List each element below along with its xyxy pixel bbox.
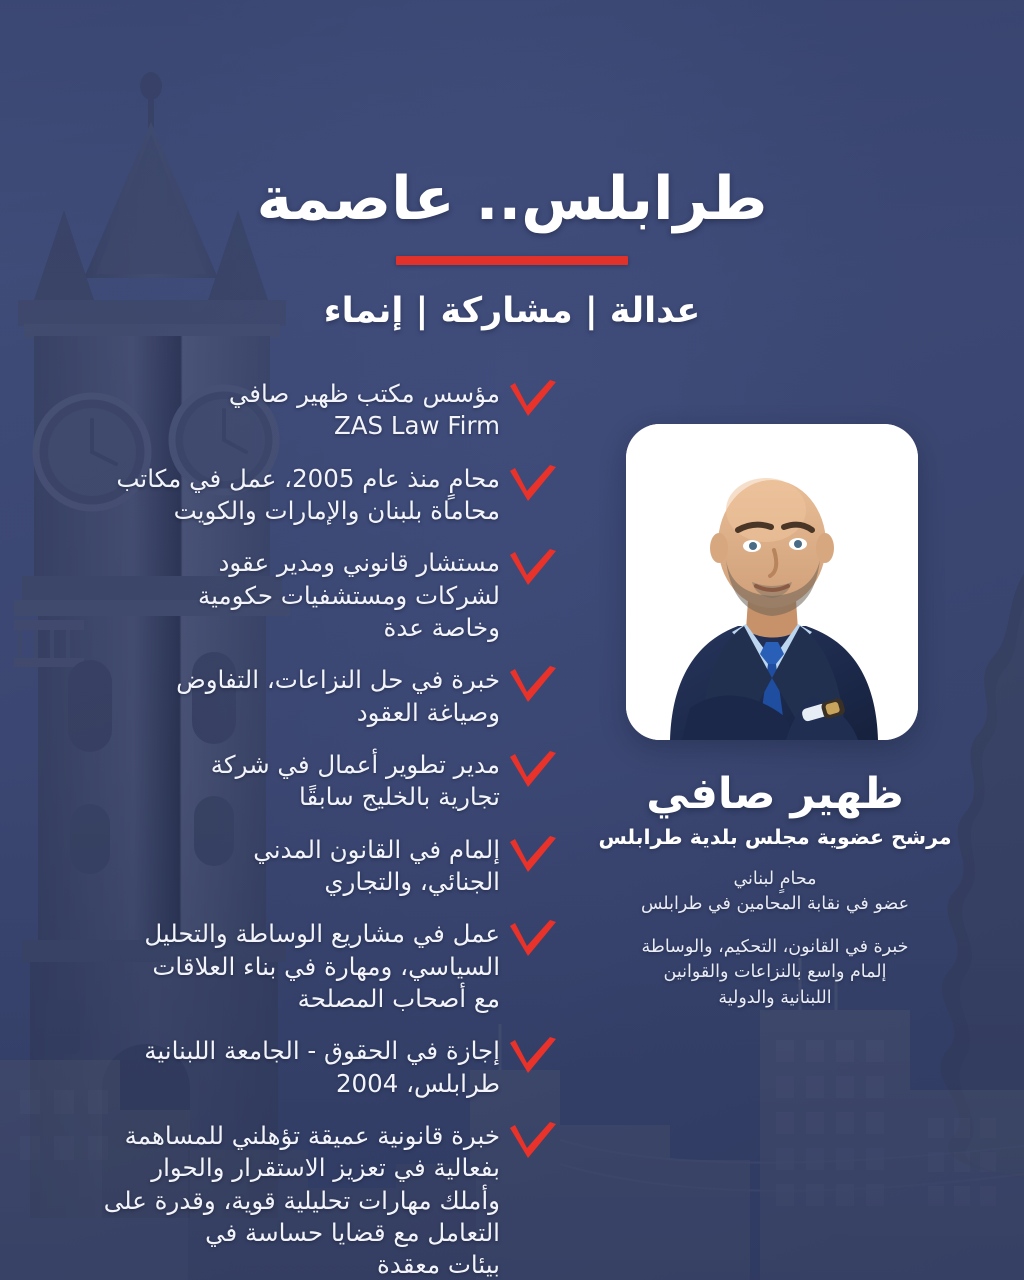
headline-block: طرابلس.. عاصمة عدالة | مشاركة | إنماء xyxy=(0,165,1024,331)
list-item: محامٍ منذ عام 2005، عمل في مكاتب محاماة … xyxy=(20,463,560,528)
check-icon xyxy=(506,1122,560,1168)
list-item: مدير تطوير أعمال في شركة تجارية بالخليج … xyxy=(20,749,560,814)
qualifications-list: مؤسس مكتب ظهير صافي ZAS Law Firm محامٍ م… xyxy=(20,378,560,1280)
title-underline xyxy=(396,256,628,265)
candidate-role: مرشح عضوية مجلس بلدية طرابلس xyxy=(560,825,990,851)
check-icon xyxy=(506,920,560,966)
check-icon xyxy=(506,549,560,595)
list-item-text: إلمام في القانون المدني الجنائي، والتجار… xyxy=(20,834,506,899)
list-item: إجازة في الحقوق - الجامعة اللبنانية طراب… xyxy=(20,1035,560,1100)
list-item: خبرة قانونية عميقة تؤهلني للمساهمة بفعال… xyxy=(20,1120,560,1280)
candidate-profile: ظهير صافي مرشح عضوية مجلس بلدية طرابلس م… xyxy=(560,770,990,1011)
candidate-name: ظهير صافي xyxy=(560,770,990,819)
check-icon xyxy=(506,666,560,712)
campaign-poster: طرابلس.. عاصمة عدالة | مشاركة | إنماء مؤ… xyxy=(0,0,1024,1280)
list-item: مستشار قانوني ومدير عقود لشركات ومستشفيا… xyxy=(20,547,560,644)
list-item-text: محامٍ منذ عام 2005، عمل في مكاتب محاماة … xyxy=(20,463,506,528)
list-item: عمل في مشاريع الوساطة والتحليل السياسي، … xyxy=(20,918,560,1015)
list-item: مؤسس مكتب ظهير صافي ZAS Law Firm xyxy=(20,378,560,443)
list-item: خبرة في حل النزاعات، التفاوض وصياغة العق… xyxy=(20,664,560,729)
list-item-text: إجازة في الحقوق - الجامعة اللبنانية طراب… xyxy=(20,1035,506,1100)
tagline: عدالة | مشاركة | إنماء xyxy=(0,291,1024,331)
check-icon xyxy=(506,836,560,882)
list-item-text: خبرة قانونية عميقة تؤهلني للمساهمة بفعال… xyxy=(20,1120,506,1280)
page-title: طرابلس.. عاصمة xyxy=(257,165,768,234)
list-item-text: عمل في مشاريع الوساطة والتحليل السياسي، … xyxy=(20,918,506,1015)
list-item-text: مدير تطوير أعمال في شركة تجارية بالخليج … xyxy=(20,749,506,814)
credentials-secondary: خبرة في القانون، التحكيم، والوساطة إلمام… xyxy=(560,935,990,1011)
list-item-text: مستشار قانوني ومدير عقود لشركات ومستشفيا… xyxy=(20,547,506,644)
credentials-primary: محامٍ لبناني عضو في نقابة المحامين في طر… xyxy=(560,867,990,918)
check-icon xyxy=(506,465,560,511)
check-icon xyxy=(506,380,560,426)
candidate-portrait xyxy=(626,424,918,740)
check-icon xyxy=(506,1037,560,1083)
list-item-text: مؤسس مكتب ظهير صافي ZAS Law Firm xyxy=(20,378,506,443)
list-item-text: خبرة في حل النزاعات، التفاوض وصياغة العق… xyxy=(20,664,506,729)
list-item: إلمام في القانون المدني الجنائي، والتجار… xyxy=(20,834,560,899)
check-icon xyxy=(506,751,560,797)
